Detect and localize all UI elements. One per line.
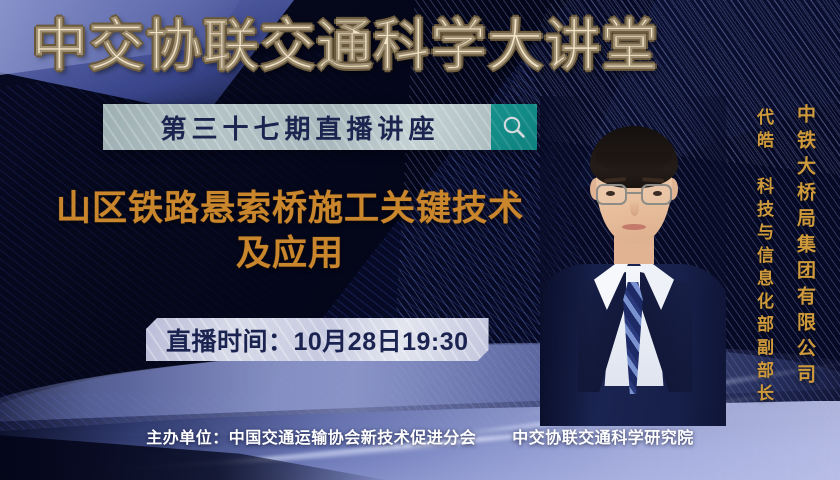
footer-organizer-primary: 主办单位：中国交通运输协会新技术促进分会 [146,430,476,447]
search-icon [501,114,527,140]
lecture-title-line-2: 及应用 [30,231,550,276]
poster-canvas: 中交协联交通科学大讲堂 第三十七期直播讲座 山区铁路悬索桥施工关键技术 及应用 … [0,0,840,480]
lecture-title: 山区铁路悬索桥施工关键技术 及应用 [30,186,550,276]
live-time-badge: 直播时间：10月28日19:30 [146,318,489,361]
session-label: 第三十七期直播讲座 [103,104,491,150]
poster-content: 中交协联交通科学大讲堂 第三十七期直播讲座 山区铁路悬索桥施工关键技术 及应用 … [0,0,840,480]
footer-organizers: 主办单位：中国交通运输协会新技术促进分会 中交协联交通科学研究院 [0,424,840,448]
search-icon-box[interactable] [491,104,537,150]
speaker-organization: 中铁大桥局集团有限公司 [791,104,818,390]
session-banner: 第三十七期直播讲座 [103,104,537,150]
lecture-title-line-1: 山区铁路悬索桥施工关键技术 [30,186,550,231]
speaker-name-and-role: 代皓 科技与信息化部副部长 [751,108,776,407]
main-title: 中交协联交通科学大讲堂 [0,14,840,78]
footer-organizer-secondary: 中交协联交通科学研究院 [512,430,694,447]
